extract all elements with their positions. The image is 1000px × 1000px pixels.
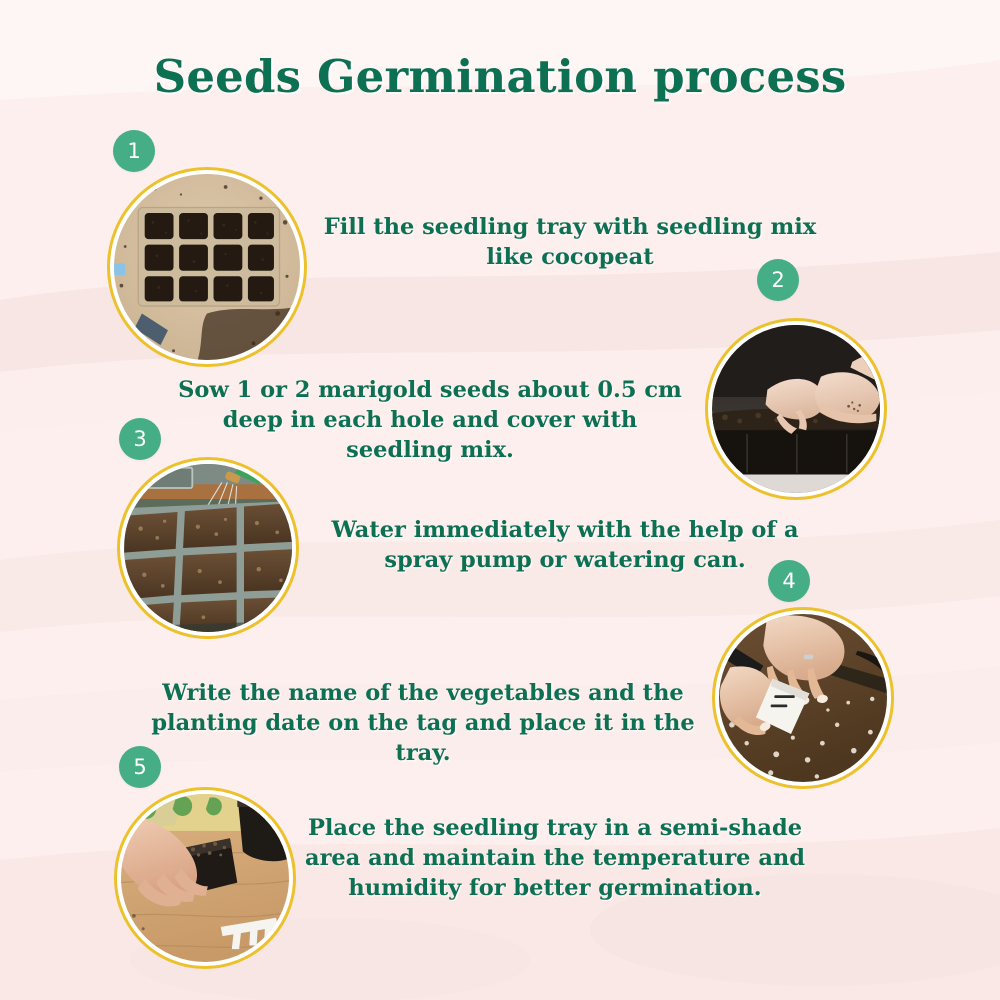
infographic-poster: Seeds Germination process 1 xyxy=(0,0,1000,1000)
step-text-5: Place the seedling tray in a semi-shade … xyxy=(305,813,805,903)
spray-watering-seedling-tray-photo xyxy=(124,464,292,632)
step-photo-1 xyxy=(107,167,307,367)
hands-sowing-seeds-into-tray-photo xyxy=(712,325,880,493)
step-badge-3: 3 xyxy=(119,418,161,460)
step-text-3: Water immediately with the help of a spr… xyxy=(295,515,835,575)
page-title: Seeds Germination process xyxy=(0,50,1000,103)
seedling-tray-filled-with-cocopeat-photo xyxy=(114,174,300,360)
step-text-1: Fill the seedling tray with seedling mix… xyxy=(315,212,825,272)
step-photo-3 xyxy=(117,457,299,639)
step-photo-5 xyxy=(114,787,296,969)
step-badge-1: 1 xyxy=(113,130,155,172)
step-badge-2: 2 xyxy=(757,259,799,301)
step-text-4: Write the name of the vegetables and the… xyxy=(143,678,703,768)
hands-writing-plant-label-photo xyxy=(719,614,887,782)
step-badge-5: 5 xyxy=(119,746,161,788)
hand-placing-pot-on-wooden-table-photo xyxy=(121,794,289,962)
step-photo-2 xyxy=(705,318,887,500)
step-photo-4 xyxy=(712,607,894,789)
step-badge-4: 4 xyxy=(768,560,810,602)
step-text-2: Sow 1 or 2 marigold seeds about 0.5 cm d… xyxy=(175,375,685,465)
